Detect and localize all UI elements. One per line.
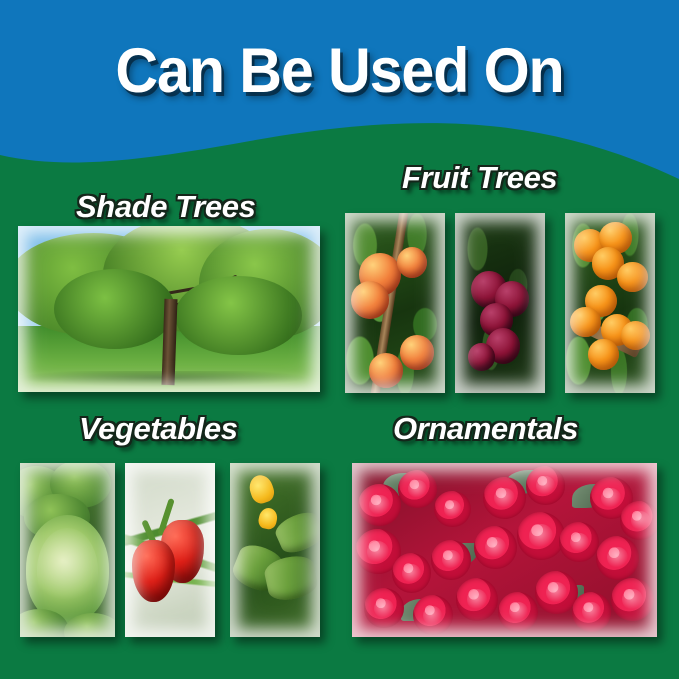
photo-peaches: [345, 213, 445, 393]
section-caption-fruit-trees: Fruit Trees: [402, 162, 557, 193]
section-caption-shade-trees: Shade Trees: [76, 191, 255, 222]
photo-shade-tree: [18, 226, 320, 392]
photo-oranges: [565, 213, 655, 393]
photo-plums: [455, 213, 545, 393]
photo-cabbage: [20, 463, 115, 637]
poster-canvas: Can Be Used On Shade Trees Fruit Trees V…: [0, 0, 679, 679]
photo-zucchini: [230, 463, 320, 637]
photo-bell-peppers: [125, 463, 215, 637]
section-caption-ornamentals: Ornamentals: [393, 413, 578, 444]
photo-roses: [352, 463, 657, 637]
page-title: Can Be Used On: [20, 40, 658, 103]
section-caption-vegetables: Vegetables: [79, 413, 238, 444]
